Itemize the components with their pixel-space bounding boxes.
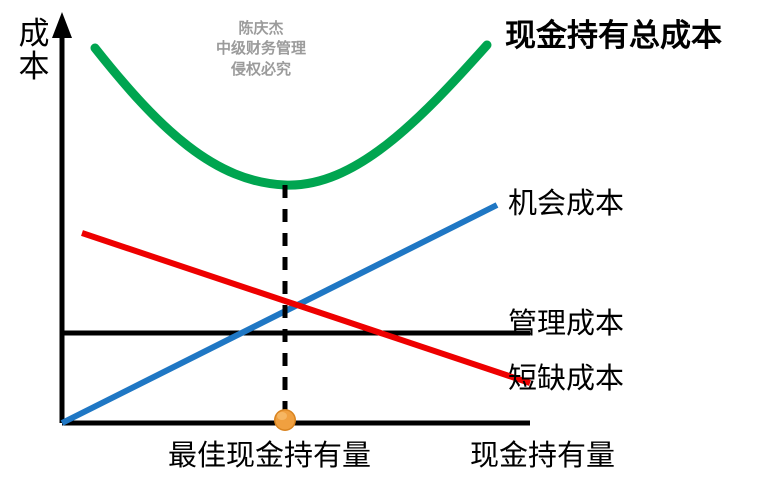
label-management-cost: 管理成本 bbox=[508, 308, 624, 338]
label-opportunity-cost: 机会成本 bbox=[508, 188, 624, 218]
label-shortage-cost: 短缺成本 bbox=[508, 363, 624, 393]
y-axis-label: 成 本 bbox=[12, 18, 56, 83]
label-total-cost: 现金持有总成本 bbox=[505, 20, 722, 53]
series-line-opportunity-cost bbox=[62, 205, 497, 423]
chart-plot-area bbox=[0, 0, 760, 496]
chart-canvas: 成 本 陈庆杰 中级财务管理 侵权必究 现金持有总成本 机会成本 管理成本 短缺… bbox=[0, 0, 760, 496]
optimal-point-marker bbox=[274, 409, 296, 431]
watermark-line-3: 侵权必究 bbox=[196, 59, 326, 79]
x-axis-label: 现金持有量 bbox=[470, 440, 615, 470]
watermark-line-1: 陈庆杰 bbox=[196, 18, 326, 38]
watermark: 陈庆杰 中级财务管理 侵权必究 bbox=[196, 18, 326, 79]
watermark-line-2: 中级财务管理 bbox=[196, 38, 326, 58]
label-optimal-cash-amount: 最佳现金持有量 bbox=[168, 440, 371, 470]
y-axis-label-char-2: 本 bbox=[12, 51, 56, 84]
series-line-shortage-cost bbox=[82, 233, 530, 383]
y-axis-label-char-1: 成 bbox=[12, 18, 56, 51]
